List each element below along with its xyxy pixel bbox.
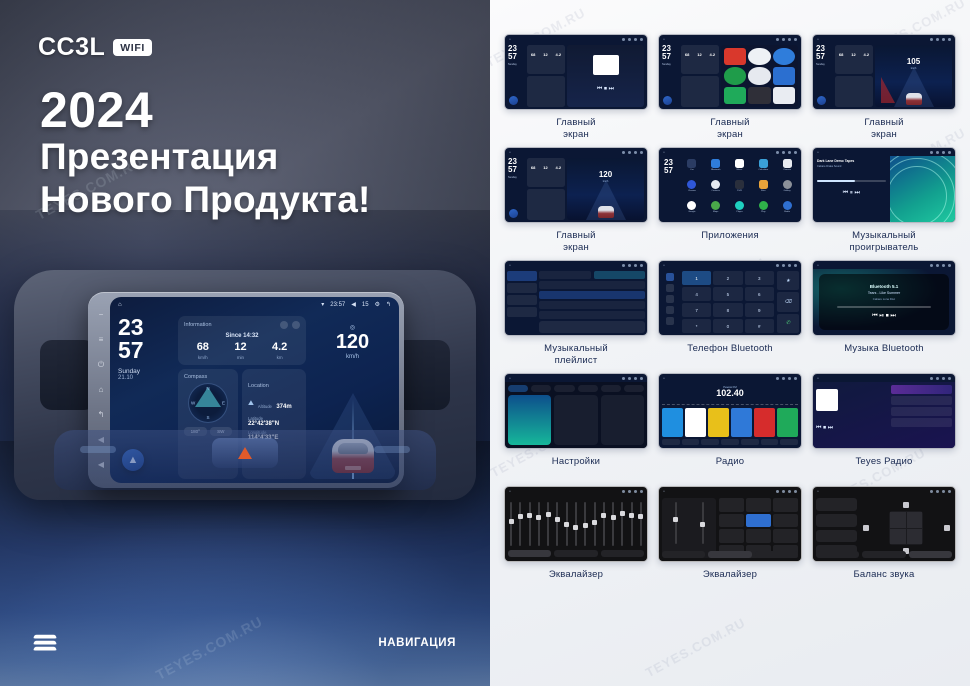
- item-caption: Баланс звука: [854, 569, 915, 593]
- now-playing-bar[interactable]: [539, 321, 645, 333]
- screenshot-thumbnail[interactable]: ⌂ 23 57 Sunday 68124.2 ⏮ ⏹ ⏭: [504, 34, 648, 110]
- watermark: TEYES.COM.RU: [643, 615, 748, 680]
- visualizer: [890, 156, 955, 222]
- dial-key[interactable]: 4: [682, 287, 711, 301]
- compass-west: W: [191, 401, 195, 406]
- bluetooth-player-card[interactable]: Bluetooth 5.1 Tears - Like Summer Cabare…: [819, 274, 949, 330]
- dial-key[interactable]: 1: [682, 271, 711, 285]
- altitude-label: Altitude: [258, 404, 272, 409]
- app-icon[interactable]: Car: [681, 159, 703, 177]
- hero-panel: TEYES.COM.RU TEYES.COM.RU CC3L WIFI 2024…: [0, 0, 490, 686]
- preset-buttons[interactable]: [719, 498, 798, 558]
- app-icon[interactable]: Camera: [776, 159, 798, 177]
- power-icon[interactable]: ⏻: [96, 360, 106, 370]
- gallery-item[interactable]: ⌂ 2357 Car Bluetooth Music Calculator Ca…: [658, 147, 802, 254]
- back-arrow-icon[interactable]: ↰: [96, 410, 106, 420]
- item-caption: Teyes Радио: [855, 456, 912, 480]
- speed-value: 120: [599, 170, 612, 179]
- track-artist: Cabare Luna Disc: [873, 297, 895, 301]
- home-icon: ⌂: [663, 150, 665, 154]
- item-caption: Музыка Bluetooth: [844, 343, 924, 367]
- home-icon: ⌂: [817, 376, 819, 380]
- dial-key[interactable]: 6: [745, 287, 774, 301]
- app-icon[interactable]: DVR: [729, 180, 751, 198]
- balance-pad[interactable]: [861, 498, 952, 558]
- stat-value: 4.2: [272, 342, 287, 353]
- album-art: [816, 389, 838, 411]
- speed-unit: km/h: [911, 67, 917, 70]
- equalizer-tabs[interactable]: [662, 551, 798, 558]
- home-icon: ⌂: [663, 263, 665, 267]
- screenshot-thumbnail[interactable]: ⌂: [504, 260, 648, 336]
- compass-east: E: [222, 401, 225, 406]
- preset-tile[interactable]: [777, 408, 798, 437]
- headline-line-2: Нового Продукта!: [40, 179, 371, 222]
- dial-key[interactable]: 0: [713, 319, 742, 333]
- album-art: [593, 55, 619, 75]
- altitude-value: 374m: [276, 404, 291, 410]
- item-caption: Главныйэкран: [864, 117, 903, 141]
- dial-key[interactable]: *: [682, 319, 711, 333]
- screenshot-thumbnail[interactable]: ⌂: [658, 486, 802, 562]
- volume-up-icon[interactable]: ≡: [96, 335, 106, 345]
- navigation-arrow-icon[interactable]: [509, 96, 518, 105]
- app-icon[interactable]: Chrome: [681, 180, 703, 198]
- car-dashboard-illustration: − ≡ ⏻ ⌂ ↰ ◀ ◀ ⌂ ▾ 23:57: [0, 262, 490, 562]
- location-title: Location: [248, 383, 269, 389]
- status-time: 23:57: [330, 302, 345, 308]
- dial-key[interactable]: 3: [745, 271, 774, 285]
- dial-key[interactable]: 8: [713, 303, 742, 317]
- stat-value: 68: [197, 342, 209, 353]
- status-bar: ⌂ ▾ 23:57 ◀ 15 ⚙ ↰: [110, 297, 399, 312]
- track-artist: Cabare Drake Sound: [817, 165, 886, 168]
- home-icon: ⌂: [509, 489, 511, 493]
- navigation-arrow-icon[interactable]: [663, 96, 672, 105]
- home-icon: ⌂: [663, 37, 665, 41]
- item-caption: Эквалайзер: [549, 569, 603, 593]
- volume-down-icon[interactable]: −: [96, 310, 106, 320]
- dial-key[interactable]: #: [745, 319, 774, 333]
- item-caption: Музыкальныйпроигрыватель: [850, 230, 919, 254]
- gallery-item[interactable]: ⌂ Bluetooth 5.1 Tears - Like Summer Caba…: [812, 260, 956, 367]
- compass-south: S: [206, 415, 209, 420]
- stat-item: 68 km/h: [197, 342, 209, 360]
- home-icon: ⌂: [817, 37, 819, 41]
- app-icon[interactable]: Files: [752, 180, 774, 198]
- compass-dial: N E S W: [188, 383, 228, 423]
- compass-north: N: [206, 386, 209, 391]
- home-icon: ⌂: [509, 376, 511, 380]
- app-icon[interactable]: Google: [681, 201, 703, 219]
- screenshot-thumbnail[interactable]: ⌂: [812, 486, 956, 562]
- item-caption: Настройки: [552, 456, 600, 480]
- screenshot-thumbnail[interactable]: ⌂ Режим FM 102.40: [658, 373, 802, 449]
- volume-level: ◀: [351, 301, 356, 308]
- volume-value: 15: [362, 302, 369, 308]
- speed-value: 120: [336, 332, 369, 352]
- wifi-card[interactable]: [508, 395, 551, 445]
- preset-tile[interactable]: [754, 408, 775, 437]
- backspace-icon[interactable]: ⌫: [777, 292, 799, 311]
- app-icon[interactable]: Music: [729, 159, 751, 177]
- dial-key[interactable]: 9: [745, 303, 774, 317]
- brand-logo: CC3L WIFI: [38, 33, 152, 62]
- center-console: [54, 430, 436, 490]
- screenshot-thumbnail[interactable]: ⌂ 2357Sunday 68124.2 120 km/h: [504, 147, 648, 223]
- playlist-sidebar[interactable]: [507, 271, 537, 333]
- item-caption: Радио: [716, 456, 744, 480]
- app-icon[interactable]: Bluetooth: [705, 159, 727, 177]
- screenshot-thumbnail[interactable]: ⌂ 2357 Car Bluetooth Music Calculator Ca…: [658, 147, 802, 223]
- balance-right-icon[interactable]: [944, 525, 950, 531]
- layers-icon[interactable]: [34, 634, 56, 652]
- stat-unit: min: [234, 355, 246, 360]
- since-label: Since 14:32: [184, 333, 300, 339]
- radio-presets[interactable]: [662, 408, 798, 437]
- app-icon[interactable]: Calculator: [752, 159, 774, 177]
- item-caption: Главныйэкран: [556, 230, 595, 254]
- star-icon[interactable]: ★: [777, 271, 799, 290]
- clock-day: Sunday: [118, 368, 174, 375]
- radio-frequency: 102.40: [662, 389, 798, 399]
- clock-minutes: 57: [508, 53, 525, 61]
- equalizer-sliders[interactable]: [508, 498, 644, 546]
- stat-value: 12: [234, 342, 246, 353]
- gallery-item[interactable]: ⌂ 2357Sunday 68124.2: [658, 34, 802, 141]
- gear-icon[interactable]: ⚙: [375, 301, 380, 308]
- gallery-item[interactable]: ⌂ 2357Sunday 68124.2 105 km/h: [812, 34, 956, 141]
- stat-unit: km: [272, 355, 287, 360]
- mountain-icon: ⛰: [248, 400, 254, 408]
- app-icon[interactable]: Play: [752, 201, 774, 219]
- gallery-item[interactable]: ⌂ ⏮ ⏹ ⏭ Teyes Радио: [812, 373, 956, 480]
- dialer-sidebar[interactable]: [661, 271, 679, 333]
- item-caption: Приложения: [701, 230, 759, 254]
- clock-hours: 23: [118, 316, 174, 339]
- headline: 2024 Презентация Нового Продукта!: [40, 85, 371, 221]
- trip-stats: 68 km/h 12 min 4.2: [184, 342, 300, 360]
- compass-title: Compass: [184, 374, 232, 380]
- item-caption: Главныйэкран: [710, 117, 749, 141]
- playback-controls[interactable]: ⏮ ⏹ ⏭: [816, 425, 888, 432]
- screenshot-thumbnail[interactable]: ⌂ Bluetooth 5.1 Tears - Like Summer Caba…: [812, 260, 956, 336]
- station-list[interactable]: [891, 385, 952, 445]
- navigation-arrow-icon[interactable]: [509, 209, 518, 218]
- dashboard-body: − ≡ ⏻ ⌂ ↰ ◀ ◀ ⌂ ▾ 23:57: [14, 270, 476, 500]
- equalizer-tabs[interactable]: [508, 550, 644, 557]
- app-icon[interactable]: Radio: [776, 201, 798, 219]
- screenshot-thumbnail[interactable]: ⌂ Dark Lane Demo Tapes Cabare Drake Soun…: [812, 147, 956, 223]
- home-icon: ⌂: [663, 376, 665, 380]
- home-icon: ⌂: [663, 489, 665, 493]
- gallery-item[interactable]: ⌂ Баланс звука: [812, 486, 956, 593]
- wifi-icon: ▾: [321, 301, 324, 308]
- hazard-button[interactable]: [212, 438, 278, 468]
- back-arrow-icon[interactable]: ↰: [386, 301, 391, 308]
- screenshot-thumbnail[interactable]: ⌂: [504, 486, 648, 562]
- balance-tabs[interactable]: [816, 551, 952, 558]
- brand-name: CC3L: [38, 33, 105, 62]
- balance-up-icon[interactable]: [903, 502, 909, 508]
- fader-sliders[interactable]: [662, 498, 716, 558]
- home-icon: ⌂: [817, 489, 819, 493]
- radio-header: Режим FM 102.40: [662, 385, 798, 399]
- dial-key[interactable]: 5: [713, 287, 742, 301]
- expand-icon[interactable]: [292, 321, 300, 329]
- tuning-scale[interactable]: [662, 401, 798, 405]
- track-title: Tears - Like Summer: [868, 291, 900, 295]
- wifi-badge: WIFI: [113, 39, 152, 56]
- gallery-item[interactable]: ⌂ 1 2 3 4 5 6 7 8 9: [658, 260, 802, 367]
- balance-presets[interactable]: [816, 498, 857, 558]
- balance-left-icon[interactable]: [863, 525, 869, 531]
- radio-toolbar[interactable]: [662, 439, 798, 445]
- home-icon[interactable]: ⌂: [118, 302, 122, 308]
- bluetooth-version: Bluetooth 5.1: [870, 284, 899, 289]
- carplay-card[interactable]: [554, 395, 597, 445]
- speed-value: 105: [907, 57, 920, 66]
- dialer-actions[interactable]: ★ ⌫ ✆: [777, 271, 799, 333]
- dial-key[interactable]: 2: [713, 271, 742, 285]
- gallery-item[interactable]: ⌂: [504, 486, 648, 593]
- preset-tile[interactable]: [662, 408, 683, 437]
- settings-cards[interactable]: [508, 395, 644, 445]
- speed-unit: km/h: [603, 180, 609, 183]
- gallery-item[interactable]: ⌂ Эквалайз: [658, 486, 802, 593]
- gallery-item[interactable]: ⌂ 2357Sunday 68124.2 120 km/h: [504, 147, 648, 254]
- headline-line-1: Презентация: [40, 136, 371, 179]
- app-icon[interactable]: Player: [729, 201, 751, 219]
- stat-unit: km/h: [197, 355, 209, 360]
- home-icon[interactable]: ⌂: [96, 385, 106, 395]
- clock-day: Sunday: [508, 63, 525, 66]
- screenshot-thumbnail[interactable]: ⌂ 1 2 3 4 5 6 7 8 9: [658, 260, 802, 336]
- navigation-label: НАВИГАЦИЯ: [378, 637, 456, 649]
- item-caption: Главныйэкран: [556, 117, 595, 141]
- apps-grid[interactable]: Car Bluetooth Music Calculator Camera Ch…: [681, 159, 798, 219]
- phone-icon[interactable]: ✆: [777, 314, 799, 333]
- track-title: Dark Lane Demo Tapes: [817, 159, 886, 163]
- headline-year: 2024: [40, 85, 371, 136]
- gallery-item[interactable]: ⌂ Музыкальныйплейлист: [504, 260, 648, 367]
- hazard-triangle-icon: [238, 447, 252, 459]
- app-icon[interactable]: Maps: [705, 201, 727, 219]
- home-icon: ⌂: [817, 263, 819, 267]
- preset-tile[interactable]: [731, 408, 752, 437]
- home-icon: ⌂: [509, 263, 511, 267]
- presentation-page: TEYES.COM.RU TEYES.COM.RU CC3L WIFI 2024…: [0, 0, 970, 686]
- settings-tabs[interactable]: [508, 385, 644, 392]
- latitude-value: 22°42'38"N: [248, 421, 300, 427]
- dialer-keypad[interactable]: 1 2 3 4 5 6 7 8 9 * 0 #: [682, 271, 774, 333]
- gallery-item[interactable]: ⌂ Настройки: [504, 373, 648, 480]
- hero-footer: НАВИГАЦИЯ: [0, 628, 490, 658]
- console-slot-right: [374, 446, 410, 453]
- screenshot-gallery: TEYES.COM.RU TEYES.COM.RU TEYES.COM.RU T…: [490, 0, 970, 686]
- home-icon: ⌂: [509, 37, 511, 41]
- speed-unit: km/h: [346, 354, 359, 360]
- preset-tile[interactable]: [685, 408, 706, 437]
- playlist-table[interactable]: [539, 271, 645, 333]
- playback-controls[interactable]: ⏮ ⏸ ⏭: [817, 190, 886, 197]
- stat-item: 4.2 km: [272, 342, 287, 360]
- gallery-item[interactable]: ⌂ Режим FM 102.40: [658, 373, 802, 480]
- car-graphic: [598, 206, 614, 218]
- dial-key[interactable]: 7: [682, 303, 711, 317]
- gallery-item[interactable]: ⌂ Dark Lane Demo Tapes Cabare Drake Soun…: [812, 147, 956, 254]
- item-caption: Эквалайзер: [703, 569, 757, 593]
- home-icon: ⌂: [817, 150, 819, 154]
- gallery-grid: ⌂ 23 57 Sunday 68124.2 ⏮ ⏹ ⏭ Г: [504, 34, 956, 593]
- speedometer-icon: ◎: [350, 324, 355, 331]
- refresh-icon[interactable]: [280, 321, 288, 329]
- item-caption: Телефон Bluetooth: [687, 343, 773, 367]
- screenshot-thumbnail[interactable]: ⌂ 2357Sunday 68124.2 105 km/h: [812, 34, 956, 110]
- progress-bar[interactable]: [817, 180, 886, 182]
- navigation-arrow-icon[interactable]: [817, 96, 826, 105]
- information-card[interactable]: Information Since 14:32: [178, 316, 306, 365]
- information-title: Information: [184, 322, 212, 328]
- app-icon[interactable]: Gallery: [776, 180, 798, 198]
- item-caption: Музыкальныйплейлист: [544, 343, 608, 367]
- clock-minutes: 57: [118, 339, 174, 362]
- gallery-item[interactable]: ⌂ 23 57 Sunday 68124.2 ⏮ ⏹ ⏭ Г: [504, 34, 648, 141]
- stat-item: 12 min: [234, 342, 246, 360]
- car-graphic: [906, 93, 922, 105]
- preset-tile[interactable]: [708, 408, 729, 437]
- more-card[interactable]: [601, 395, 644, 445]
- app-icon[interactable]: Contacts: [705, 180, 727, 198]
- screenshot-thumbnail[interactable]: ⌂ ⏮ ⏹ ⏭: [812, 373, 956, 449]
- screenshot-thumbnail[interactable]: ⌂ 2357Sunday 68124.2: [658, 34, 802, 110]
- console-slot-left: [80, 446, 116, 453]
- playback-controls[interactable]: ⏮ ⏯ ⏹ ⏭: [872, 313, 896, 320]
- home-icon: ⌂: [509, 150, 511, 154]
- clock-date: 21.10: [118, 375, 174, 381]
- progress-bar[interactable]: [837, 306, 931, 308]
- screenshot-thumbnail[interactable]: ⌂: [504, 373, 648, 449]
